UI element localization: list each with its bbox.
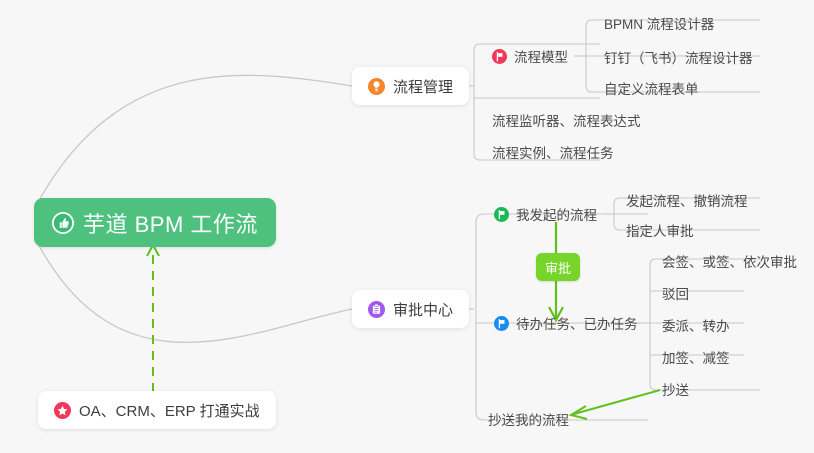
root-node[interactable]: 芋道 BPM 工作流 — [34, 198, 276, 247]
branch-node-approval-center[interactable]: 审批中心 — [352, 290, 469, 328]
leaf-node-cc-my-process-label: 抄送我的流程 — [488, 409, 569, 429]
lightbulb-icon — [368, 78, 385, 95]
leaf-node-my-initiated-process-label: 我发起的流程 — [516, 204, 597, 224]
leaf-node-reject-label: 驳回 — [662, 283, 689, 303]
annotation-cc-to-cc-process — [574, 390, 660, 414]
approval-badge-label: 审批 — [545, 258, 571, 277]
branch-node-process-management[interactable]: 流程管理 — [352, 67, 469, 105]
mindmap-canvas: 芋道 BPM 工作流 流程管理 流程模型 BPMN 流程设计器 钉钉（飞书）流 — [0, 0, 814, 453]
leaf-node-designated-approval[interactable]: 指定人审批 — [626, 216, 694, 244]
approval-badge[interactable]: 审批 — [536, 253, 580, 281]
leaf-node-custom-form-label: 自定义流程表单 — [604, 78, 699, 98]
leaf-node-delegate-transfer[interactable]: 委派、转办 — [662, 311, 730, 339]
annotation-cc-arrowhead — [571, 406, 587, 419]
leaf-node-add-remove-sign-label: 加签、减签 — [662, 347, 730, 367]
branch-node-approval-center-label: 审批中心 — [393, 299, 453, 320]
connector-root-to-branch-2 — [36, 240, 352, 342]
leaf-node-start-cancel-process[interactable]: 发起流程、撤销流程 — [626, 186, 748, 214]
branch-node-process-management-label: 流程管理 — [393, 76, 453, 97]
star-icon — [54, 402, 71, 419]
leaf-node-process-model-label: 流程模型 — [514, 46, 568, 66]
leaf-node-reject[interactable]: 驳回 — [662, 279, 689, 307]
leaf-node-todo-done-tasks[interactable]: 待办任务、已办任务 — [494, 309, 638, 337]
callout-node-integration[interactable]: OA、CRM、ERP 打通实战 — [38, 391, 276, 429]
leaf-node-countersign-label: 会签、或签、依次审批 — [662, 251, 797, 271]
leaf-node-countersign[interactable]: 会签、或签、依次审批 — [662, 247, 797, 275]
callout-node-integration-label: OA、CRM、ERP 打通实战 — [79, 400, 260, 421]
leaf-node-listener-expression-label: 流程监听器、流程表达式 — [492, 110, 641, 130]
leaf-node-cc-my-process[interactable]: 抄送我的流程 — [488, 405, 569, 433]
leaf-node-designated-approval-label: 指定人审批 — [626, 220, 694, 240]
leaf-node-dingtalk-designer[interactable]: 钉钉（飞书）流程设计器 — [604, 43, 753, 71]
thumbs-up-icon — [52, 212, 74, 234]
leaf-node-start-cancel-process-label: 发起流程、撤销流程 — [626, 190, 748, 210]
flag-icon — [494, 316, 509, 331]
leaf-node-custom-form[interactable]: 自定义流程表单 — [604, 74, 699, 102]
leaf-node-add-remove-sign[interactable]: 加签、减签 — [662, 343, 730, 371]
leaf-node-process-model[interactable]: 流程模型 — [492, 42, 568, 70]
leaf-node-cc[interactable]: 抄送 — [662, 375, 689, 403]
flag-icon — [494, 207, 509, 222]
leaf-node-todo-done-tasks-label: 待办任务、已办任务 — [516, 313, 638, 333]
leaf-node-listener-expression[interactable]: 流程监听器、流程表达式 — [492, 106, 641, 134]
flag-icon — [492, 49, 507, 64]
leaf-node-cc-label: 抄送 — [662, 379, 689, 399]
leaf-node-dingtalk-designer-label: 钉钉（飞书）流程设计器 — [604, 47, 753, 67]
leaf-node-bpmn-designer[interactable]: BPMN 流程设计器 — [604, 9, 714, 37]
leaf-node-delegate-transfer-label: 委派、转办 — [662, 315, 730, 335]
leaf-node-my-initiated-process[interactable]: 我发起的流程 — [494, 200, 597, 228]
leaf-node-instance-task-label: 流程实例、流程任务 — [492, 142, 614, 162]
clipboard-icon — [368, 301, 385, 318]
root-node-label: 芋道 BPM 工作流 — [83, 207, 258, 239]
connector-root-to-branch-1 — [36, 75, 352, 206]
leaf-node-instance-task[interactable]: 流程实例、流程任务 — [492, 138, 614, 166]
leaf-node-bpmn-designer-label: BPMN 流程设计器 — [604, 13, 714, 33]
